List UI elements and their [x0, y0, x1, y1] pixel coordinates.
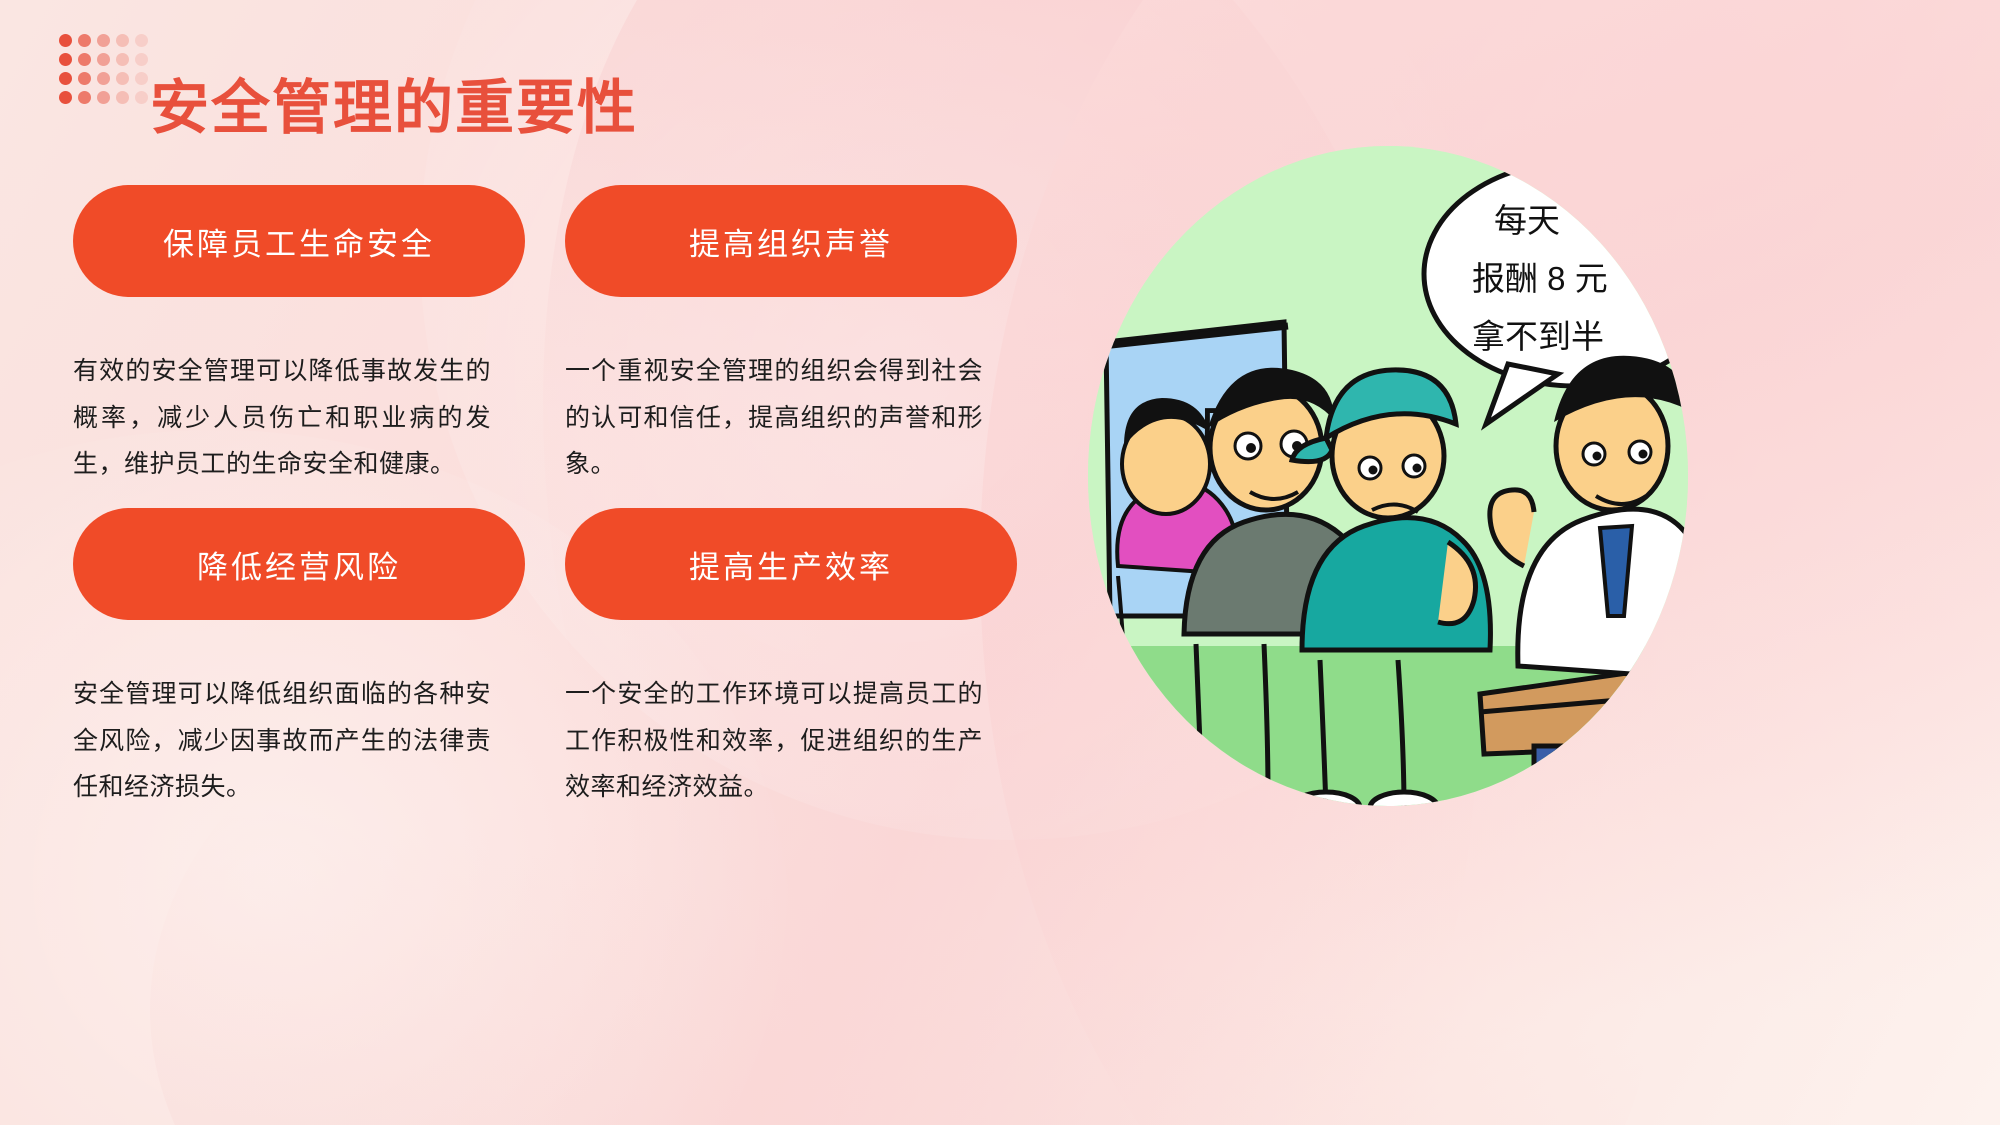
grid-dot: [59, 34, 72, 47]
grid-dot: [116, 34, 129, 47]
svg-text:拿不到半: 拿不到半: [1472, 318, 1604, 355]
dot-grid-icon: [56, 31, 151, 107]
page-title: 安全管理的重要性: [150, 77, 638, 141]
grid-dot: [135, 34, 148, 47]
card-4-body: 一个安全的工作环境可以提高员工的工作积极性和效率，促进组织的生产效率和经济效益。: [565, 672, 983, 812]
card-4: 提高生产效率 一个安全的工作环境可以提高员工的工作积极性和效率，促进组织的生产效…: [565, 508, 1017, 837]
grid-dot: [78, 91, 91, 104]
card-4-label: 提高生产效率: [689, 542, 893, 587]
card-1-body: 有效的安全管理可以降低事故发生的概率，减少人员伤亡和职业病的发生，维护员工的生命…: [73, 349, 491, 489]
card-3-pill[interactable]: 降低经营风险: [73, 508, 525, 620]
card-4-pill[interactable]: 提高生产效率: [565, 508, 1017, 620]
grid-dot: [59, 91, 72, 104]
grid-dot: [97, 72, 110, 85]
grid-dot: [116, 53, 129, 66]
grid-dot: [135, 72, 148, 85]
card-2: 提高组织声誉 一个重视安全管理的组织会得到社会的认可和信任，提高组织的声誉和形象…: [565, 185, 1017, 514]
card-3-label: 降低经营风险: [197, 542, 401, 587]
card-3: 降低经营风险 安全管理可以降低组织面临的各种安全风险，减少因事故而产生的法律责任…: [73, 508, 525, 837]
card-2-label: 提高组织声誉: [689, 219, 893, 264]
grid-dot: [97, 53, 110, 66]
card-1: 保障员工生命安全 有效的安全管理可以降低事故发生的概率，减少人员伤亡和职业病的发…: [73, 185, 525, 514]
grid-dot: [78, 72, 91, 85]
grid-dot: [59, 72, 72, 85]
card-1-label: 保障员工生命安全: [163, 219, 435, 264]
svg-text:报酬 8 元: 报酬 8 元: [1472, 260, 1608, 297]
grid-dot: [97, 34, 110, 47]
svg-text:每天: 每天: [1494, 202, 1560, 239]
grid-dot: [97, 91, 110, 104]
grid-dot: [78, 53, 91, 66]
card-2-body: 一个重视安全管理的组织会得到社会的认可和信任，提高组织的声誉和形象。: [565, 349, 983, 489]
grid-dot: [135, 53, 148, 66]
slide-canvas: 安全管理的重要性 保障员工生命安全 有效的安全管理可以降低事故发生的概率，减少人…: [0, 0, 2000, 1125]
card-1-pill[interactable]: 保障员工生命安全: [73, 185, 525, 297]
grid-dot: [116, 91, 129, 104]
card-2-pill[interactable]: 提高组织声誉: [565, 185, 1017, 297]
card-3-body: 安全管理可以降低组织面临的各种安全风险，减少因事故而产生的法律责任和经济损失。: [73, 672, 491, 812]
grid-dot: [78, 34, 91, 47]
grid-dot: [135, 91, 148, 104]
grid-dot: [116, 72, 129, 85]
cartoon-workers-illustration: 工厂 每天 报酬 8 元 拿不到半: [1088, 146, 1688, 806]
grid-dot: [59, 53, 72, 66]
